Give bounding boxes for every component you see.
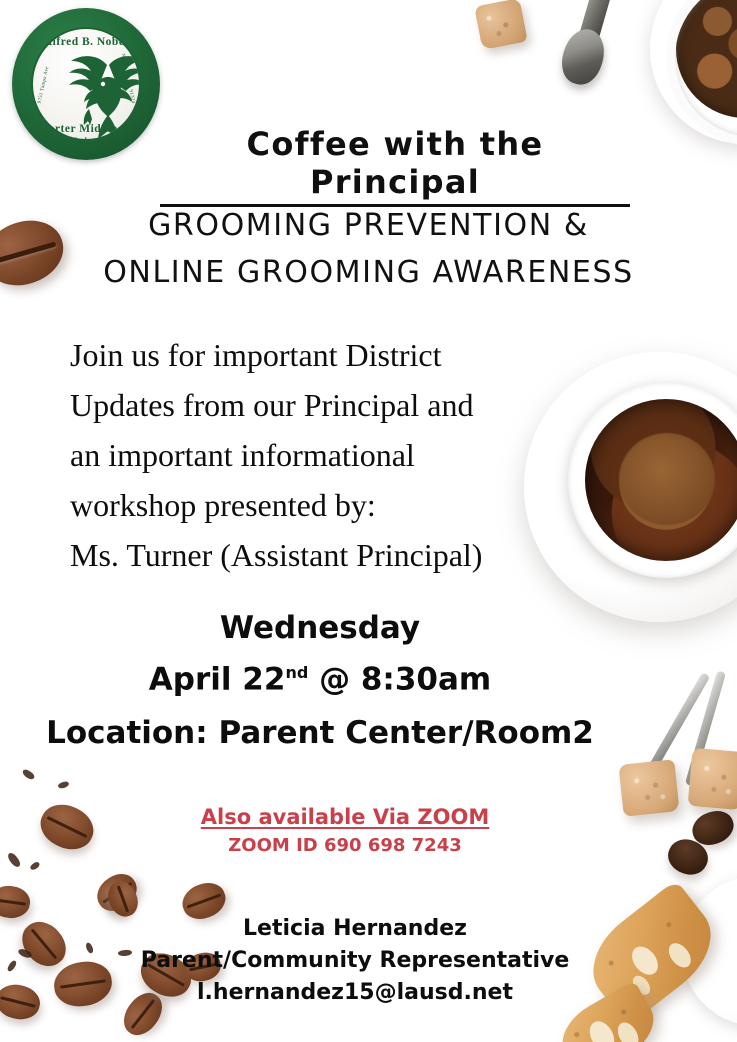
tong-arm-left <box>644 672 711 779</box>
zoom-info: Also available Via ZOOM ZOOM ID 690 698 … <box>40 802 650 860</box>
flyer-title: Coffee with the Principal <box>160 125 630 207</box>
contact-name: Leticia Hernandez <box>70 913 640 945</box>
tong-arm-right <box>685 670 726 786</box>
coffee-bean-icon <box>688 806 737 849</box>
coffee-bean-icon <box>90 867 143 918</box>
coffee-cup <box>568 382 737 578</box>
coffee-fragment <box>29 860 41 871</box>
coffee-bean-icon <box>0 980 43 1024</box>
logo-side-left-text: 9751 Tampa Ave <box>38 66 51 104</box>
event-location: Location: Parent Center/Room2 <box>40 702 600 764</box>
event-date-ordinal: nd <box>285 663 308 682</box>
event-details: Wednesday April 22nd @ 8:30am Location: … <box>40 606 600 764</box>
spoon-bowl <box>556 24 610 89</box>
sugar-cube-image <box>688 748 737 810</box>
contact-role: Parent/Community Representative <box>70 945 640 977</box>
sugar-bowl-contents <box>676 0 737 118</box>
body-line: workshop presented by: <box>70 480 550 530</box>
body-line: an important informational <box>70 430 550 480</box>
sugar-bowl-image <box>650 0 737 144</box>
coffee-fragment <box>6 959 17 972</box>
coffee-fragment <box>17 948 32 959</box>
body-line: Updates from our Principal and <box>70 380 550 430</box>
flyer-subtitle: GROOMING PREVENTION & ONLINE GROOMING AW… <box>20 202 717 296</box>
school-logo: Alfred B. Nobel Nighthawks Charter Middl… <box>12 8 160 160</box>
coffee-bean-icon <box>14 913 74 974</box>
logo-inner-disc: Alfred B. Nobel Nighthawks Charter Middl… <box>31 27 141 141</box>
zoom-availability: Also available Via ZOOM <box>40 802 650 832</box>
body-line: Ms. Turner (Assistant Principal) <box>70 530 550 580</box>
sugar-cube-image <box>474 0 528 50</box>
logo-arc-bottom: Charter Middle School <box>33 123 139 135</box>
subtitle-line-1: GROOMING PREVENTION & <box>20 202 717 249</box>
coffee-bean-icon <box>663 833 714 881</box>
spoon-handle <box>579 0 618 40</box>
event-date-time: April 22nd @ 8:30am <box>40 650 600 702</box>
event-time: @ 8:30am <box>308 661 491 697</box>
flyer-body-text: Join us for important District Updates f… <box>70 330 550 580</box>
logo-arc-top: Alfred B. Nobel <box>33 36 139 48</box>
body-line: Join us for important District <box>70 330 550 380</box>
spoon-image <box>556 0 628 89</box>
coffee-crema <box>619 433 715 525</box>
plate-image <box>682 876 737 1026</box>
coffee-fragment <box>57 780 69 790</box>
coffee-cup-image <box>524 352 737 622</box>
sugar-tongs-image <box>632 658 737 820</box>
contact-email[interactable]: l.hernandez15@lausd.net <box>70 977 640 1009</box>
event-date: April 22 <box>149 661 286 697</box>
contact-block: Leticia Hernandez Parent/Community Repre… <box>70 913 640 1009</box>
coffee-fragment <box>6 851 23 868</box>
zoom-meeting-id: ZOOM ID 690 698 7243 <box>40 832 650 860</box>
coffee-liquid <box>585 399 737 561</box>
event-day: Wednesday <box>40 606 600 650</box>
flyer-page: Alfred B. Nobel Nighthawks Charter Middl… <box>0 0 737 1042</box>
coffee-fragment <box>21 768 36 781</box>
coffee-bean-icon <box>0 883 32 920</box>
sugar-bowl-rim <box>666 0 737 146</box>
subtitle-line-2: ONLINE GROOMING AWARENESS <box>20 249 717 296</box>
